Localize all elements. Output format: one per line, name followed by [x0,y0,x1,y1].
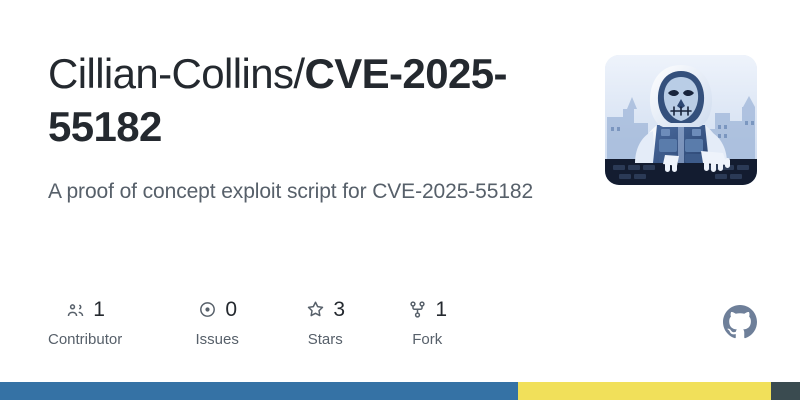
language-bar-segment-2 [518,382,771,400]
stat-contributors: 1 Contributor [48,296,122,347]
stat-issues-value: 0 [225,299,237,320]
language-bar-segment-3 [771,382,800,400]
stat-stars: 3 Stars [296,296,354,347]
repo-social-preview-card: Cillian-Collins/CVE-2025-55182 A proof o… [0,0,800,400]
stat-forks: 1 Fork [398,296,456,347]
repo-owner: Cillian-Collins [48,50,293,97]
stat-forks-top: 1 [407,296,447,322]
language-bar [0,382,800,400]
repo-forked-icon [407,299,427,319]
language-bar-segment-1 [0,382,518,400]
people-icon [65,299,85,319]
stat-forks-value: 1 [435,299,447,320]
repo-path-separator: / [293,50,304,97]
stat-stars-top: 3 [305,296,345,322]
stat-issues-label: Issues [196,332,239,347]
hooded-hacker-avatar [605,55,757,185]
stat-contributors-value: 1 [93,299,105,320]
stat-stars-label: Stars [308,332,343,347]
stat-issues-top: 0 [197,296,237,322]
star-icon [305,299,325,319]
github-mark-icon [723,305,757,339]
stat-contributors-top: 1 [65,296,105,322]
stat-issues: 0 Issues [188,296,246,347]
stat-contributors-label: Contributor [48,332,122,347]
page-title: Cillian-Collins/CVE-2025-55182 [48,47,588,153]
hooded-hacker-avatar-art [605,55,757,185]
issue-opened-icon [197,299,217,319]
repo-stats: 1 Contributor 0 Issues [48,296,456,347]
stat-forks-label: Fork [412,332,442,347]
repo-description: A proof of concept exploit script for CV… [48,173,568,210]
stat-stars-value: 3 [333,299,345,320]
